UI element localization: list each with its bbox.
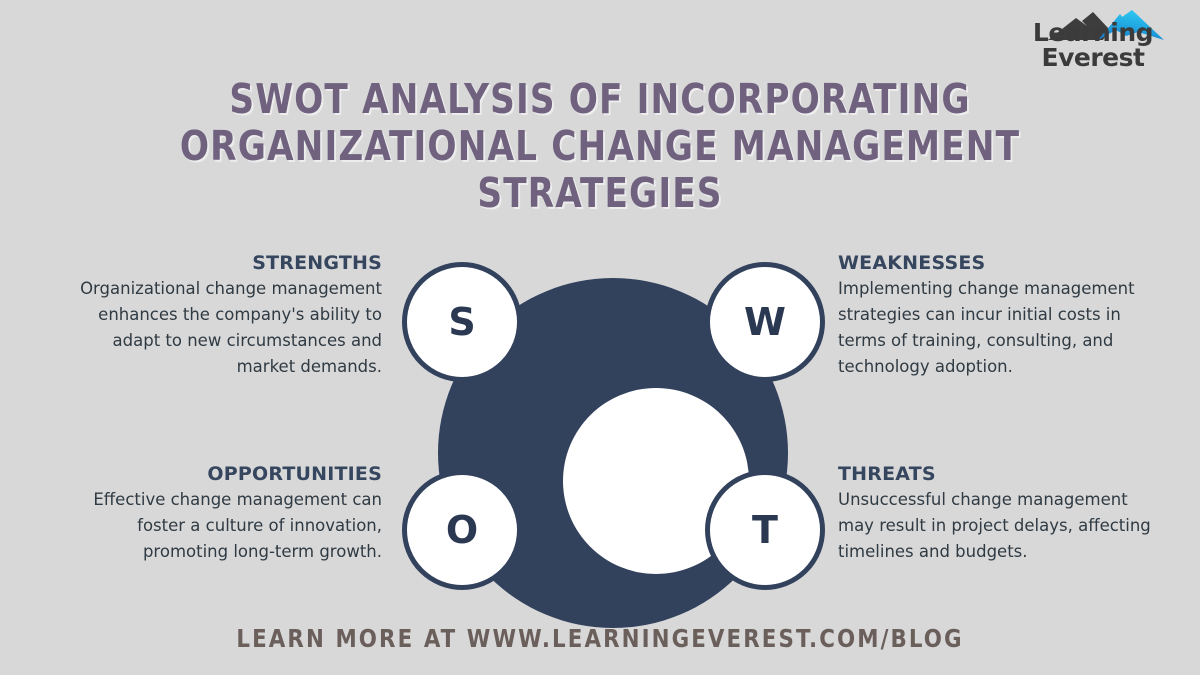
threats-body: Unsuccessful change management may resul… bbox=[838, 487, 1158, 565]
brand-wordmark: Learning Everest bbox=[1000, 20, 1186, 70]
threats-block: THREATS Unsuccessful change management m… bbox=[838, 463, 1158, 565]
opportunities-body: Effective change management can foster a… bbox=[62, 487, 382, 565]
opportunities-node[interactable]: O bbox=[402, 470, 522, 590]
strengths-node-letter: S bbox=[448, 300, 475, 344]
strengths-block: STRENGTHS Organizational change manageme… bbox=[62, 252, 382, 380]
page-title-line-1: SWOT ANALYSIS OF INCORPORATING bbox=[42, 76, 1158, 123]
strengths-body: Organizational change management enhance… bbox=[62, 276, 382, 380]
page-title-line-2: ORGANIZATIONAL CHANGE MANAGEMENT bbox=[42, 123, 1158, 170]
brand-logo: Learning Everest bbox=[1000, 8, 1186, 70]
threats-heading: THREATS bbox=[838, 463, 1158, 485]
threats-node-letter: T bbox=[752, 508, 778, 552]
opportunities-block: OPPORTUNITIES Effective change managemen… bbox=[62, 463, 382, 565]
strengths-heading: STRENGTHS bbox=[62, 252, 382, 274]
weaknesses-heading: WEAKNESSES bbox=[838, 252, 1158, 274]
swot-diagram: S W O T bbox=[395, 250, 835, 600]
weaknesses-block: WEAKNESSES Implementing change managemen… bbox=[838, 252, 1158, 380]
page-title: SWOT ANALYSIS OF INCORPORATING ORGANIZAT… bbox=[42, 76, 1158, 217]
threats-node[interactable]: T bbox=[705, 470, 825, 590]
opportunities-node-letter: O bbox=[446, 508, 478, 552]
weaknesses-node[interactable]: W bbox=[705, 262, 825, 382]
weaknesses-body: Implementing change management strategie… bbox=[838, 276, 1158, 380]
opportunities-heading: OPPORTUNITIES bbox=[62, 463, 382, 485]
page-title-line-3: STRATEGIES bbox=[42, 170, 1158, 217]
footer-cta[interactable]: LEARN MORE AT WWW.LEARNINGEVEREST.COM/BL… bbox=[30, 624, 1170, 653]
strengths-node[interactable]: S bbox=[402, 262, 522, 382]
weaknesses-node-letter: W bbox=[744, 300, 786, 344]
